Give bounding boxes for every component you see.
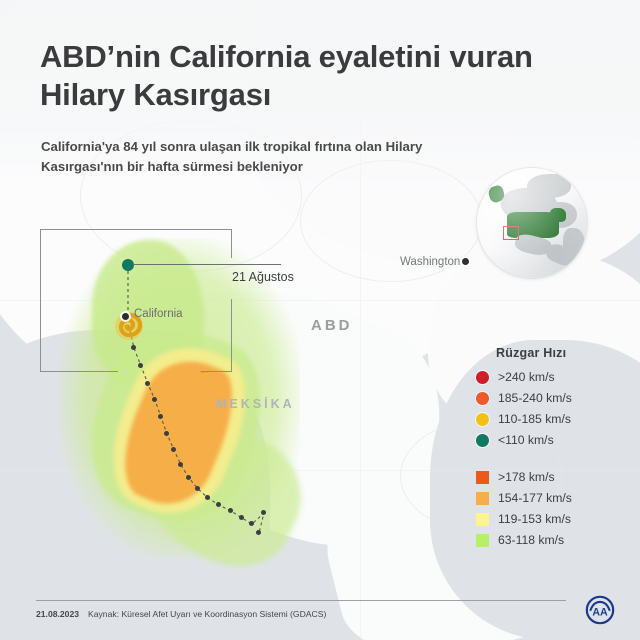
legend-item-wind-point: >240 km/s <box>476 367 626 387</box>
svg-text:AA: AA <box>592 607 608 619</box>
track-point <box>145 381 150 386</box>
legend-swatch-circle <box>476 434 489 447</box>
page-subtitle: California'ya 84 yıl sonra ulaşan ilk tr… <box>41 137 461 177</box>
legend-item-wind-point: 185-240 km/s <box>476 388 626 408</box>
track-point <box>216 502 221 507</box>
inset-frame-left <box>40 229 41 371</box>
label-washington: Washington <box>400 256 460 268</box>
inset-frame-right-upper <box>231 229 232 258</box>
legend-label: 119-153 km/s <box>498 512 571 526</box>
label-country-meksika: MEKSİKA <box>216 397 295 411</box>
aa-logo-icon: AA <box>583 593 617 627</box>
page-title: ABD’nin California eyaletini vuran Hilar… <box>40 38 560 114</box>
track-point <box>171 447 176 452</box>
legend-swatch-circle <box>476 371 489 384</box>
legend-label: >178 km/s <box>498 470 555 484</box>
inset-frame-top-left <box>40 229 232 230</box>
legend-swatch-circle <box>476 392 489 405</box>
marker-california <box>122 313 129 320</box>
globe-inset <box>477 168 587 278</box>
legend-item-wind-point: 110-185 km/s <box>476 409 626 429</box>
callout-label: 21 Ağustos <box>232 270 294 284</box>
callout-marker-21-august <box>122 259 134 271</box>
infographic-canvas: 21 Ağustos California Washington ABD MEK… <box>0 0 640 640</box>
track-point <box>256 530 261 535</box>
legend-item-wind-area: >178 km/s <box>476 467 626 487</box>
track-point <box>158 414 163 419</box>
track-point <box>195 486 200 491</box>
legend-label: >240 km/s <box>498 370 555 384</box>
globe-shading <box>477 168 587 278</box>
track-point <box>186 475 191 480</box>
legend-separator <box>476 451 626 467</box>
marker-washington <box>462 258 469 265</box>
legend-label: 185-240 km/s <box>498 391 572 405</box>
legend-label: <110 km/s <box>498 433 554 447</box>
legend-item-wind-area: 63-118 km/s <box>476 530 626 550</box>
track-point <box>249 521 254 526</box>
track-point <box>138 363 143 368</box>
inset-frame-bottom-right <box>201 371 232 372</box>
label-country-abd: ABD <box>311 317 353 334</box>
track-point <box>205 495 210 500</box>
legend: Rüzgar Hızı >240 km/s 185-240 km/s 110-1… <box>476 346 626 551</box>
legend-label: 63-118 km/s <box>498 533 564 547</box>
legend-label: 154-177 km/s <box>498 491 572 505</box>
track-point <box>152 397 157 402</box>
track-point <box>261 510 266 515</box>
footer-date: 21.08.2023 <box>36 609 79 619</box>
legend-item-wind-point: <110 km/s <box>476 430 626 450</box>
track-point <box>131 345 136 350</box>
track-point <box>164 431 169 436</box>
track-point <box>178 462 183 467</box>
legend-item-wind-area: 154-177 km/s <box>476 488 626 508</box>
track-point <box>228 508 233 513</box>
legend-swatch-square <box>476 492 489 505</box>
legend-swatch-square <box>476 471 489 484</box>
inset-frame-right-lower <box>231 299 232 371</box>
legend-item-wind-area: 119-153 km/s <box>476 509 626 529</box>
legend-swatch-circle <box>476 413 489 426</box>
legend-label: 110-185 km/s <box>498 412 571 426</box>
legend-swatch-square <box>476 513 489 526</box>
footer-divider <box>36 600 566 601</box>
track-point <box>239 515 244 520</box>
legend-swatch-square <box>476 534 489 547</box>
callout-leader-line <box>133 264 281 265</box>
legend-title: Rüzgar Hızı <box>496 346 626 360</box>
footer-source: Kaynak: Küresel Afet Uyarı ve Koordinasy… <box>88 609 326 619</box>
label-california: California <box>134 308 183 320</box>
inset-frame-bottom-left <box>40 371 118 372</box>
